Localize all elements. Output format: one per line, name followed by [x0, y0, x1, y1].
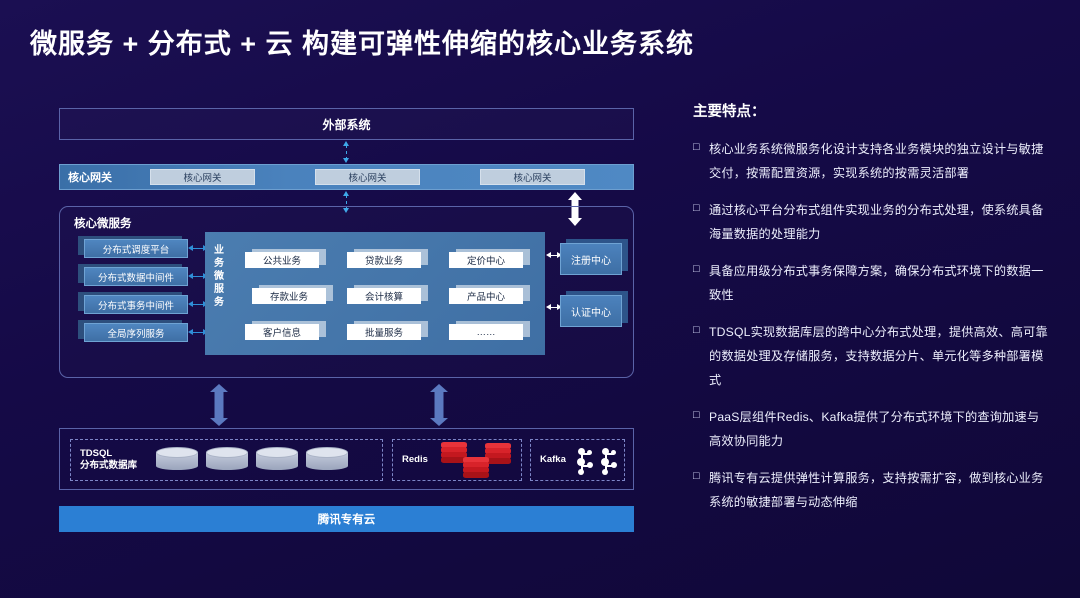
database-cylinder-icon [256, 447, 298, 473]
kafka-group: Kafka [530, 439, 625, 481]
redis-label: Redis [402, 454, 428, 466]
bullet-square-icon: □ [693, 466, 709, 514]
external-system-box: 外部系统 [59, 108, 634, 140]
redis-group: Redis [392, 439, 522, 481]
platform-component-item[interactable]: 全局序列服务 [78, 320, 188, 339]
redis-cube-icon [441, 442, 519, 480]
business-service-label: 定价中心 [449, 252, 523, 268]
arrow-external-to-gateway [346, 141, 347, 163]
tdsql-label: TDSQL 分布式数据库 [80, 448, 137, 472]
auth-center-label: 认证中心 [560, 295, 622, 327]
private-cloud-bar: 腾讯专有云 [59, 506, 634, 532]
registry-center-chip[interactable]: 注册中心 [560, 239, 632, 273]
database-cylinder-icon [306, 447, 348, 473]
business-service-label: 贷款业务 [347, 252, 421, 268]
platform-component-label: 分布式调度平台 [84, 239, 188, 258]
registry-component-list: 注册中心 认证中心 [560, 239, 632, 343]
kafka-label: Kafka [540, 454, 566, 466]
bullet-square-icon: □ [693, 320, 709, 392]
business-service-item[interactable]: 会计核算 [347, 285, 429, 303]
business-service-item[interactable]: 产品中心 [449, 285, 531, 303]
bullet-square-icon: □ [693, 405, 709, 453]
architecture-diagram: 外部系统 核心网关 核心网关 核心网关 核心网关 核心微服务 分布式调度平台 分… [55, 108, 638, 538]
business-service-grid: 公共业务 贷款业务 定价中心 存款业务 会计核算 产品中心 客户信息 批量服务 … [235, 240, 541, 348]
auth-center-chip[interactable]: 认证中心 [560, 291, 632, 325]
external-system-label: 外部系统 [322, 116, 370, 133]
business-service-item[interactable]: 公共业务 [245, 249, 327, 267]
business-service-item[interactable]: 贷款业务 [347, 249, 429, 267]
feature-item: □ 通过核心平台分布式组件实现业务的分布式处理，使系统具备海量数据的处理能力 [693, 198, 1048, 246]
feature-item: □ 核心业务系统微服务化设计支持各业务模块的独立设计与敏捷交付，按需配置资源，实… [693, 137, 1048, 185]
platform-component-list: 分布式调度平台 分布式数据中间件 分布式事务中间件 全局序列服务 [78, 236, 188, 348]
feature-item: □ 具备应用级分布式事务保障方案，确保分布式环境下的数据一致性 [693, 259, 1048, 307]
arrow-core-to-tdsql [207, 384, 231, 426]
business-service-item[interactable]: 客户信息 [245, 321, 327, 339]
tdsql-group: TDSQL 分布式数据库 [70, 439, 383, 481]
platform-component-item[interactable]: 分布式事务中间件 [78, 292, 188, 311]
database-cylinder-icon [156, 447, 198, 473]
feature-text: 通过核心平台分布式组件实现业务的分布式处理，使系统具备海量数据的处理能力 [709, 198, 1048, 246]
business-service-item[interactable]: 存款业务 [245, 285, 327, 303]
core-microservice-container: 核心微服务 分布式调度平台 分布式数据中间件 分布式事务中间件 全局序列服务 [59, 206, 634, 378]
business-microservice-panel: 业务微服务 公共业务 贷款业务 定价中心 存款业务 会计核算 产品中心 客户信息… [205, 232, 545, 355]
business-service-label: 产品中心 [449, 288, 523, 304]
feature-text: 核心业务系统微服务化设计支持各业务模块的独立设计与敏捷交付，按需配置资源，实现系… [709, 137, 1048, 185]
business-service-item[interactable]: 批量服务 [347, 321, 429, 339]
feature-text: TDSQL实现数据库层的跨中心分布式处理，提供高效、高可靠的数据处理及存储服务，… [709, 320, 1048, 392]
platform-component-label: 分布式事务中间件 [84, 295, 188, 314]
platform-component-label: 全局序列服务 [84, 323, 188, 342]
core-microservice-title: 核心微服务 [74, 215, 132, 231]
feature-text: PaaS层组件Redis、Kafka提供了分布式环境下的查询加速与高效协同能力 [709, 405, 1048, 453]
bullet-square-icon: □ [693, 137, 709, 185]
kafka-node-icon [575, 445, 621, 477]
platform-component-item[interactable]: 分布式数据中间件 [78, 264, 188, 283]
database-cylinder-icon [206, 447, 248, 473]
bullet-square-icon: □ [693, 198, 709, 246]
business-service-label: 公共业务 [245, 252, 319, 268]
gateway-chip-3: 核心网关 [480, 169, 585, 185]
feature-text: 具备应用级分布式事务保障方案，确保分布式环境下的数据一致性 [709, 259, 1048, 307]
data-layer-container: TDSQL 分布式数据库 Redis Kafka [59, 428, 634, 490]
platform-component-label: 分布式数据中间件 [84, 267, 188, 286]
bullet-square-icon: □ [693, 259, 709, 307]
private-cloud-label: 腾讯专有云 [318, 511, 376, 527]
core-gateway-bar: 核心网关 核心网关 核心网关 核心网关 [59, 164, 634, 190]
business-service-label: 客户信息 [245, 324, 319, 340]
business-service-label: 会计核算 [347, 288, 421, 304]
gateway-chip-1: 核心网关 [150, 169, 255, 185]
business-service-item[interactable]: 定价中心 [449, 249, 531, 267]
features-title: 主要特点： [693, 100, 1048, 121]
business-service-label: 存款业务 [252, 288, 326, 304]
business-service-label: …… [449, 324, 523, 340]
gateway-chip-2: 核心网关 [315, 169, 420, 185]
features-panel: 主要特点： □ 核心业务系统微服务化设计支持各业务模块的独立设计与敏捷交付，按需… [693, 100, 1048, 527]
platform-component-item[interactable]: 分布式调度平台 [78, 236, 188, 255]
business-service-label: 批量服务 [347, 324, 421, 340]
page-title: 微服务 + 分布式 + 云 构建可弹性伸缩的核心业务系统 [30, 22, 694, 61]
feature-item: □ 腾讯专有云提供弹性计算服务，支持按需扩容，做到核心业务系统的敏捷部署与动态伸… [693, 466, 1048, 514]
business-service-item[interactable]: …… [449, 321, 531, 339]
feature-text: 腾讯专有云提供弹性计算服务，支持按需扩容，做到核心业务系统的敏捷部署与动态伸缩 [709, 466, 1048, 514]
feature-item: □ TDSQL实现数据库层的跨中心分布式处理，提供高效、高可靠的数据处理及存储服… [693, 320, 1048, 392]
business-microservice-vertical-label: 业务微服务 [211, 244, 227, 309]
registry-center-label: 注册中心 [560, 243, 622, 275]
core-gateway-title: 核心网关 [68, 169, 140, 185]
arrow-core-to-paas [427, 384, 451, 426]
tdsql-node-icons [156, 447, 348, 473]
feature-item: □ PaaS层组件Redis、Kafka提供了分布式环境下的查询加速与高效协同能… [693, 405, 1048, 453]
